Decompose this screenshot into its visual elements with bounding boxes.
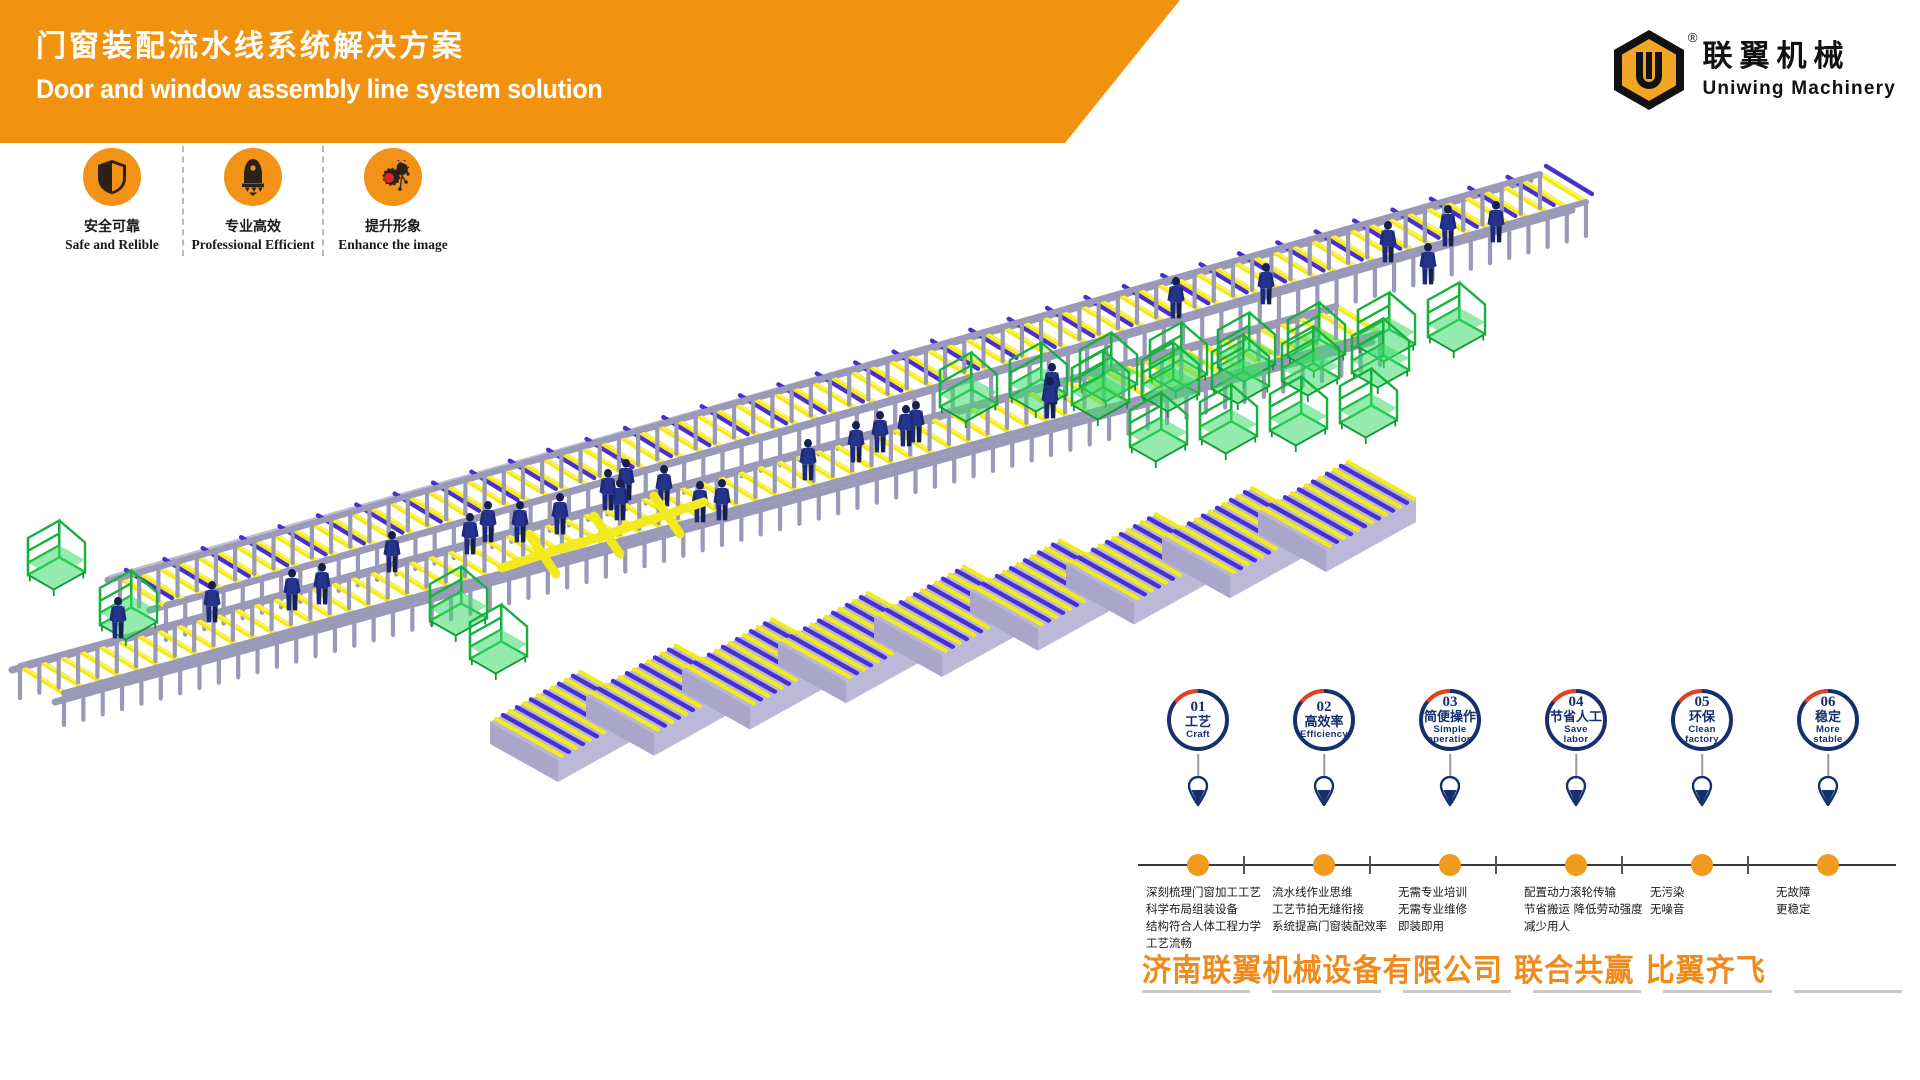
- timeline-description: 无需专业培训无需专业维修即装即用: [1398, 884, 1516, 935]
- map-pin-icon: [1439, 776, 1461, 811]
- benefits-timeline: 01工艺Craft深刻梳理门窗加工工艺科学布局组装设备结构符合人体工程力学工艺流…: [1138, 688, 1898, 938]
- timeline-tick: [1243, 856, 1245, 874]
- timeline-dot: [1313, 854, 1335, 876]
- timeline-number: 03: [1443, 695, 1458, 711]
- timeline-label-cn: 工艺: [1185, 716, 1211, 730]
- timeline-label-en: Cleanfactory: [1685, 725, 1719, 745]
- timeline-dot: [1439, 854, 1461, 876]
- map-pin-icon: [1817, 776, 1839, 811]
- timeline-number: 01: [1191, 700, 1206, 716]
- map-pin-icon: [1187, 776, 1209, 811]
- timeline-number: 05: [1695, 695, 1710, 711]
- timeline-dot: [1817, 854, 1839, 876]
- timeline-item-03[interactable]: 03简便操作Simpleoperation无需专业培训无需专业维修即装即用: [1400, 688, 1500, 752]
- timeline-label-cn: 节省人工: [1550, 711, 1602, 725]
- timeline-number: 02: [1317, 700, 1332, 716]
- map-pin-icon: [1565, 776, 1587, 811]
- logo-name-en: Uniwing Machinery: [1702, 78, 1896, 100]
- timeline-dot: [1565, 854, 1587, 876]
- timeline-description: 配置动力滚轮传输节省搬运 降低劳动强度减少用人: [1524, 884, 1642, 935]
- timeline-item-01[interactable]: 01工艺Craft深刻梳理门窗加工工艺科学布局组装设备结构符合人体工程力学工艺流…: [1148, 688, 1248, 752]
- timeline-item-02[interactable]: 02高效率Efficiency流水线作业思维工艺节拍无缝衔接系统提高门窗装配效率: [1274, 688, 1374, 752]
- logo-name-cn: 联翼机械: [1702, 40, 1896, 73]
- timeline-description: 无污染无噪音: [1650, 884, 1768, 918]
- timeline-label-en: Efficiency: [1300, 730, 1348, 740]
- timeline-ring: 04节省人工Savelabor: [1544, 688, 1608, 752]
- page-title-cn: 门窗装配流水线系统解决方案: [36, 28, 645, 66]
- timeline-label-cn: 高效率: [1304, 716, 1343, 730]
- timeline-label-cn: 环保: [1689, 711, 1715, 725]
- timeline-ring: 02高效率Efficiency: [1292, 688, 1356, 752]
- material-cart: [28, 521, 85, 596]
- timeline-tick: [1369, 856, 1371, 874]
- footer-divider: [1142, 990, 1902, 993]
- company-slogan: 济南联翼机械设备有限公司 联合共赢 比翼齐飞: [1142, 945, 1856, 990]
- logo-text-block: 联翼机械 Uniwing Machinery: [1702, 40, 1896, 100]
- footer-slogan-block: 济南联翼机械设备有限公司 联合共赢 比翼齐飞: [1142, 945, 1902, 990]
- timeline-item-05[interactable]: 05环保Cleanfactory无污染无噪音: [1652, 688, 1752, 752]
- timeline-number: 04: [1569, 695, 1584, 711]
- map-pin-icon: [1313, 776, 1335, 811]
- timeline-stem: [1827, 754, 1829, 776]
- timeline-stem: [1197, 754, 1199, 776]
- timeline-label-en: Savelabor: [1564, 725, 1589, 745]
- timeline-description: 流水线作业思维工艺节拍无缝衔接系统提高门窗装配效率: [1272, 884, 1390, 935]
- poster-root: 门窗装配流水线系统解决方案 Door and window assembly l…: [0, 0, 1920, 1080]
- timeline-number: 06: [1821, 695, 1836, 711]
- timeline-label-en: Simpleoperation: [1427, 725, 1473, 745]
- logo-hexagon-u-icon: ®: [1610, 28, 1688, 112]
- timeline-stem: [1323, 754, 1325, 776]
- material-cart: [1428, 283, 1485, 358]
- timeline-ring: 01工艺Craft: [1166, 688, 1230, 752]
- registered-trademark-icon: ®: [1688, 30, 1698, 45]
- timeline-dot: [1691, 854, 1713, 876]
- timeline-description: 无故障更稳定: [1776, 884, 1894, 918]
- timeline-label-en: Morestable: [1813, 725, 1842, 745]
- map-pin-icon: [1691, 776, 1713, 811]
- timeline-stem: [1449, 754, 1451, 776]
- timeline-stem: [1575, 754, 1577, 776]
- timeline-axis: [1138, 864, 1896, 866]
- page-title-en: Door and window assembly line system sol…: [36, 72, 602, 107]
- timeline-tick: [1621, 856, 1623, 874]
- timeline-dot: [1187, 854, 1209, 876]
- timeline-label-en: Craft: [1186, 730, 1210, 740]
- timeline-label-cn: 稳定: [1815, 711, 1841, 725]
- timeline-tick: [1747, 856, 1749, 874]
- timeline-label-cn: 简便操作: [1424, 711, 1476, 725]
- timeline-item-06[interactable]: 06稳定Morestable无故障更稳定: [1778, 688, 1878, 752]
- timeline-ring: 03简便操作Simpleoperation: [1418, 688, 1482, 752]
- timeline-item-04[interactable]: 04节省人工Savelabor配置动力滚轮传输节省搬运 降低劳动强度减少用人: [1526, 688, 1626, 752]
- timeline-description: 深刻梳理门窗加工工艺科学布局组装设备结构符合人体工程力学工艺流畅: [1146, 884, 1264, 952]
- timeline-ring: 06稳定Morestable: [1796, 688, 1860, 752]
- timeline-ring: 05环保Cleanfactory: [1670, 688, 1734, 752]
- timeline-stem: [1701, 754, 1703, 776]
- banner-text-block: 门窗装配流水线系统解决方案 Door and window assembly l…: [36, 28, 645, 107]
- timeline-tick: [1495, 856, 1497, 874]
- brand-logo: ® 联翼机械 Uniwing Machinery: [1610, 28, 1896, 112]
